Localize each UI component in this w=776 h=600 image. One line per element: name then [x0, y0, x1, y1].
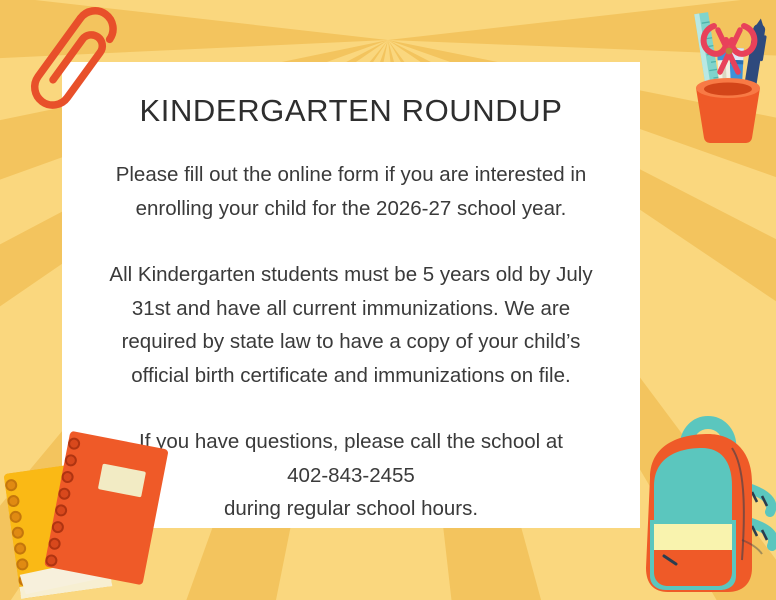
- content-card: KINDERGARTEN ROUNDUP Please fill out the…: [62, 62, 640, 528]
- paragraph-contact: If you have questions, please call the s…: [70, 425, 632, 526]
- card-inner: KINDERGARTEN ROUNDUP Please fill out the…: [62, 62, 640, 528]
- paragraph-requirements: All Kindergarten students must be 5 year…: [70, 258, 632, 392]
- page-title: KINDERGARTEN ROUNDUP: [70, 92, 632, 129]
- flyer-canvas: KINDERGARTEN ROUNDUP Please fill out the…: [0, 0, 776, 600]
- paragraph-enrollment: Please fill out the online form if you a…: [70, 158, 632, 225]
